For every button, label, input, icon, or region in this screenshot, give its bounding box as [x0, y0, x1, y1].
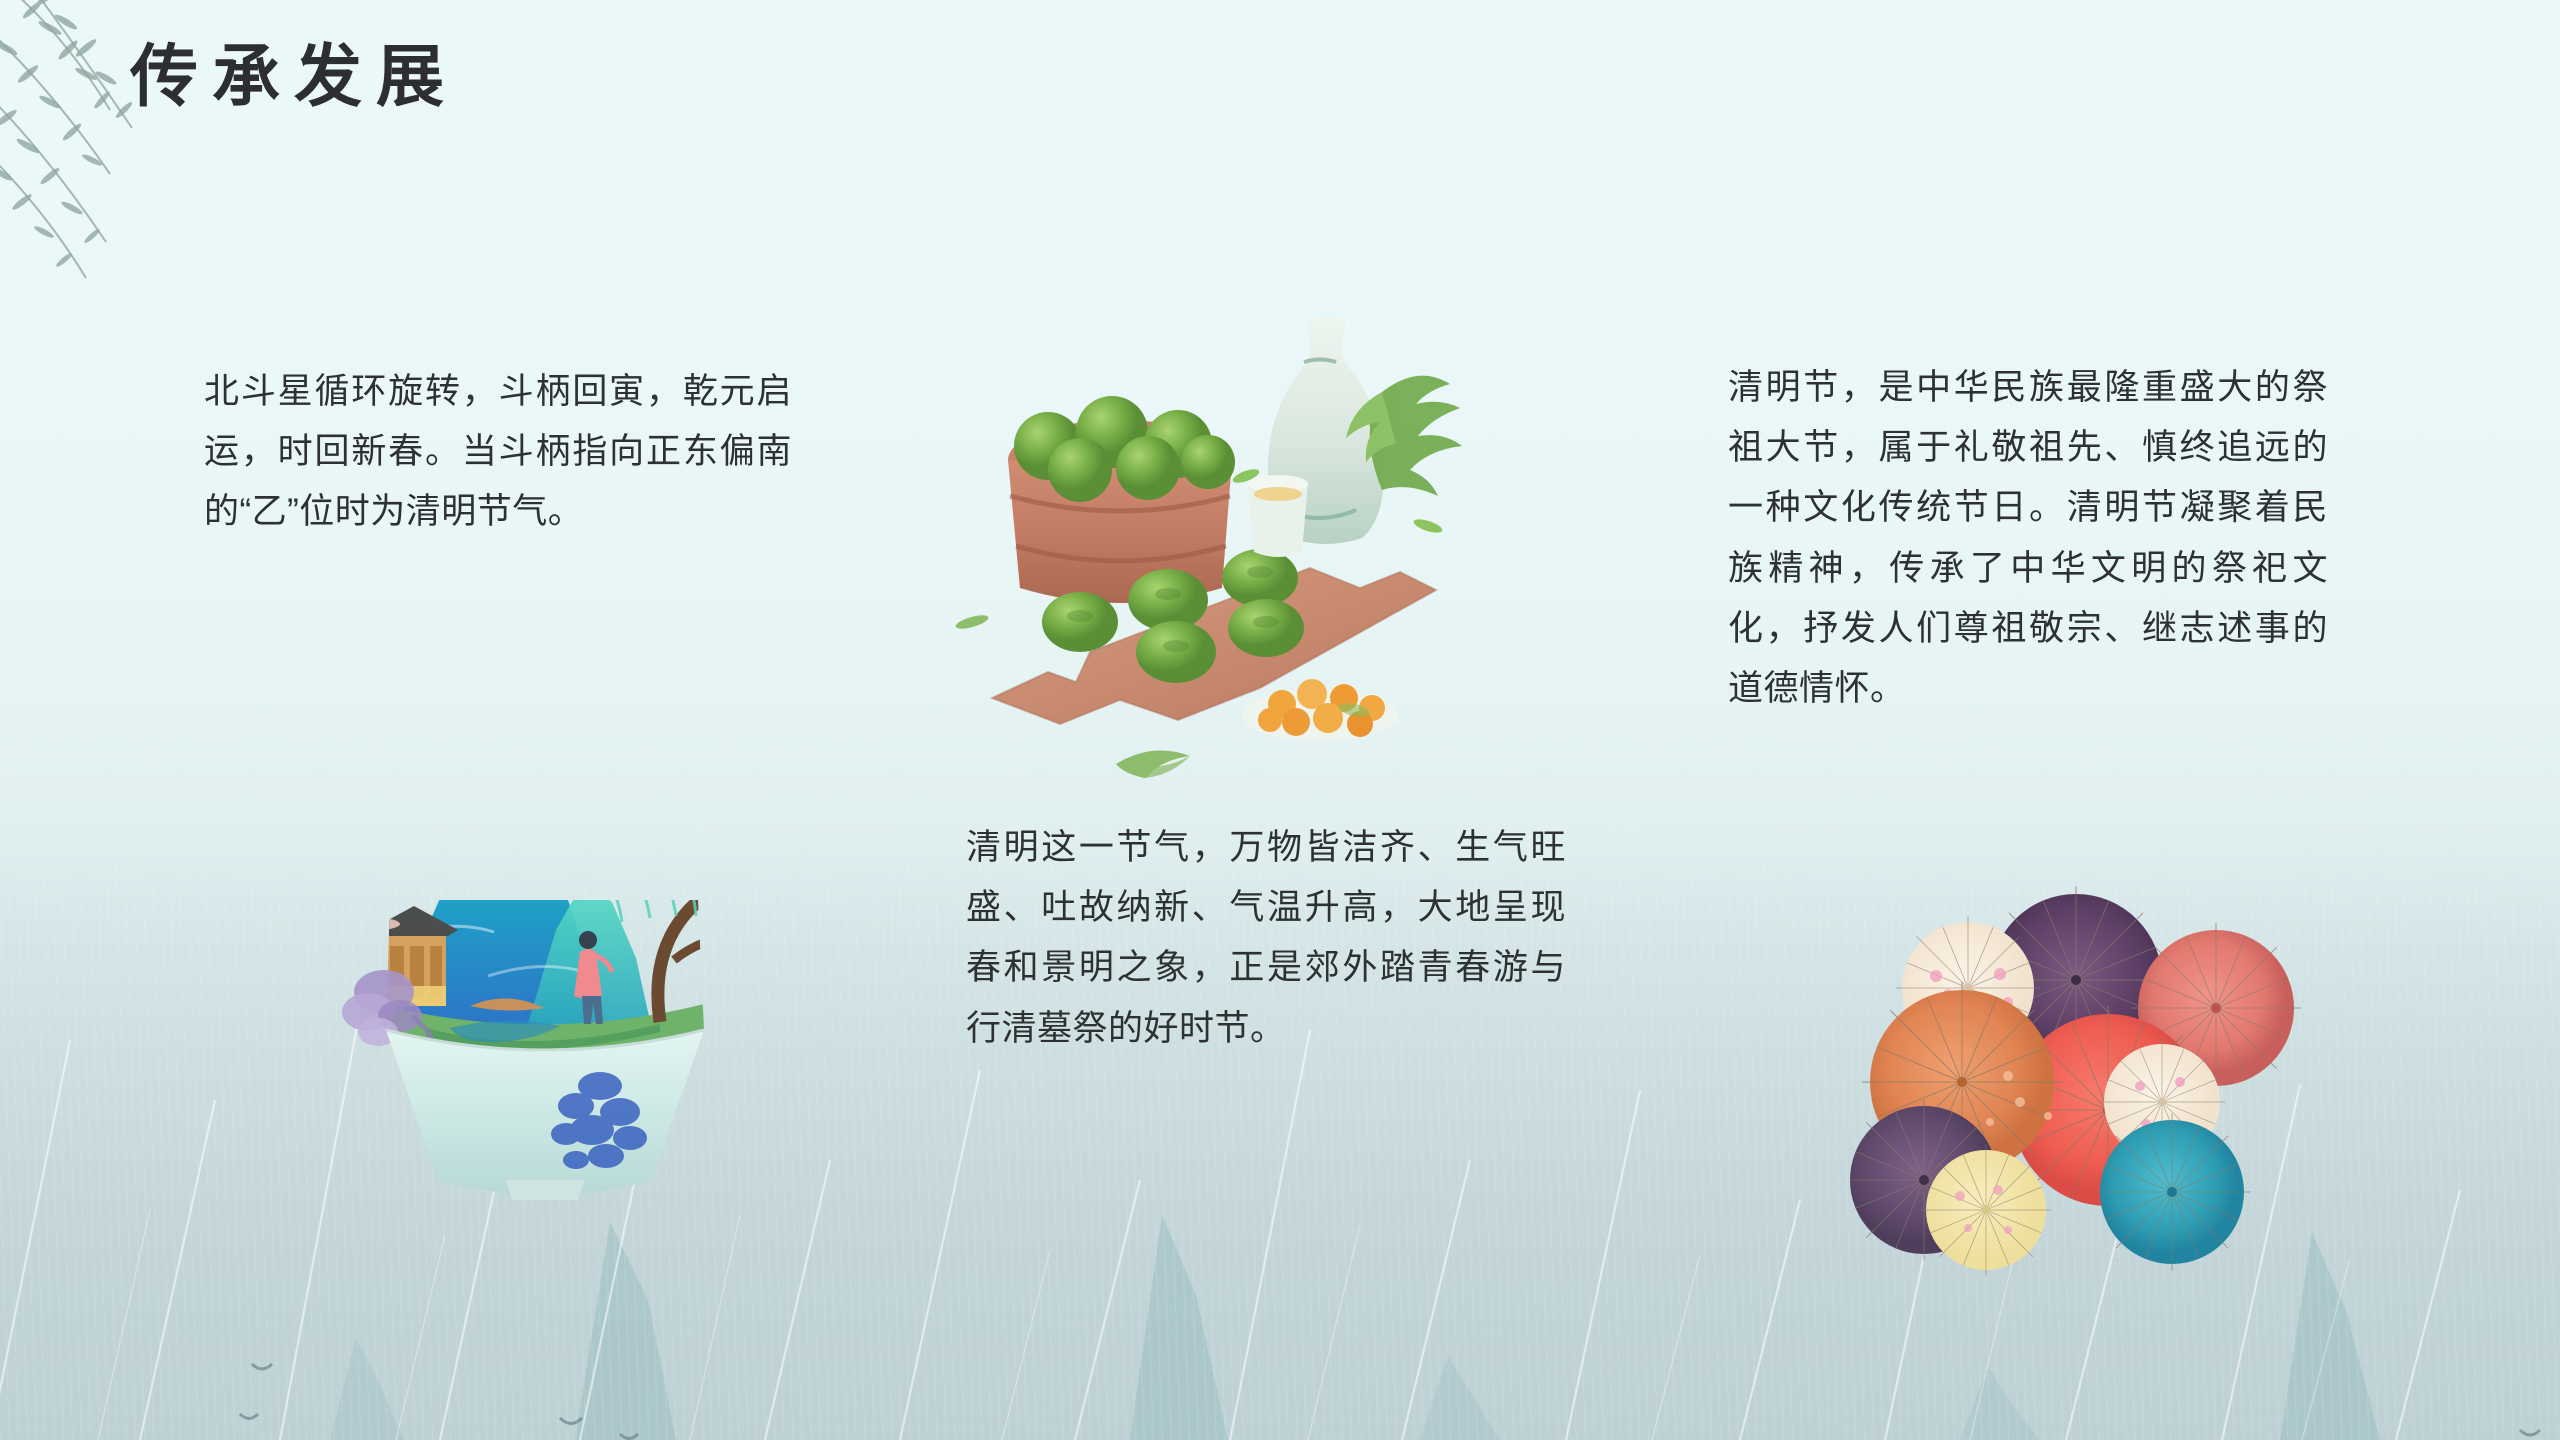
umbrella-teal-bottomright [2094, 1114, 2251, 1271]
oil-paper-umbrellas-illustration [1850, 880, 2310, 1290]
slide-canvas: 传承发展 北斗星循环旋转，斗柄回寅，乾元启运，时回新春。当斗柄指向正东偏南的“乙… [0, 0, 2560, 1440]
teacup-foot [506, 1180, 584, 1200]
teacup-body [386, 1030, 704, 1195]
page-title: 传承发展 [130, 28, 458, 127]
paragraph-right: 清明节，是中华民族最隆重盛大的祭祖大节，属于礼敬祖先、慎终追远的一种文化传统节日… [1728, 358, 2328, 719]
paragraph-center: 清明这一节气，万物皆洁齐、生气旺盛、吐故纳新、气温升高，大地呈现春和景明之象，正… [966, 818, 1566, 1059]
paragraph-left: 北斗星循环旋转，斗柄回寅，乾元启运，时回新春。当斗柄指向正东偏南的“乙”位时为清… [204, 362, 792, 543]
umbrella-yellow-bottom [1921, 1145, 2052, 1276]
swallows [536, 852, 722, 879]
qingtuan-steamer-illustration [930, 300, 1510, 800]
landscape-teacup-illustration [330, 780, 760, 1220]
loquats [1258, 679, 1385, 737]
